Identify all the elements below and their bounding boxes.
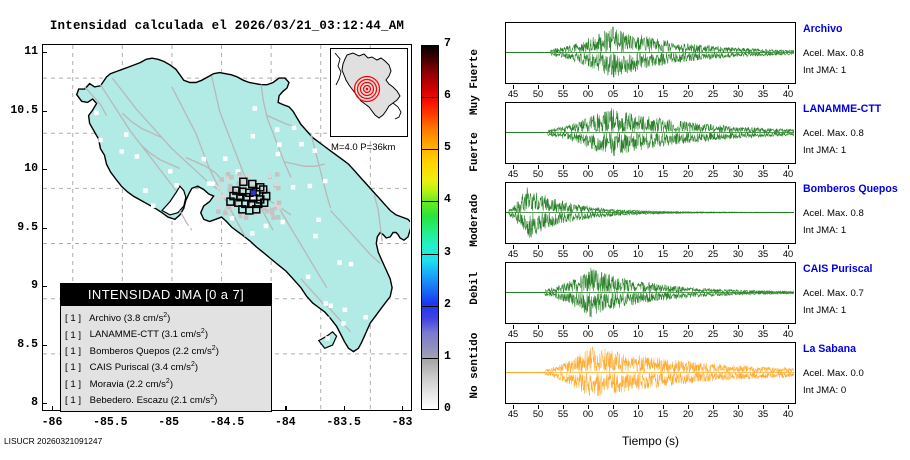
waveform-jma-intensity: Int JMA: 1	[803, 145, 846, 156]
legend-close-paren: )	[205, 330, 208, 341]
waveform-time-tick-label: 15	[651, 169, 675, 179]
legend-intensity-bracket: [ 1 ]	[65, 361, 87, 374]
earthquake-magnitude-depth-caption: M=4.0 P=36km	[331, 142, 395, 153]
waveform-time-tick-label: 25	[701, 249, 725, 259]
colorbar-tick-label: 2	[444, 298, 451, 311]
waveform-station-name[interactable]: Archivo	[803, 23, 842, 35]
waveform-time-tick-label: 55	[551, 169, 575, 179]
colorbar-tick	[421, 358, 439, 359]
legend-station-name: LANAMME-CTT (3.1 cm/s	[87, 330, 201, 341]
waveform-time-tick-label: 30	[726, 169, 750, 179]
map-x-tick-label: -85	[142, 416, 196, 429]
waveform-time-tick-label: 30	[726, 249, 750, 259]
map-y-tick-label: 8	[0, 396, 38, 409]
waveform-time-tick-label: 35	[751, 329, 775, 339]
waveform-station-name[interactable]: Bomberos Quepos	[803, 183, 898, 195]
legend-station-name: CAIS Puriscal (3.4 cm/s	[87, 362, 191, 373]
page-title: Intensidad calculada el 2026/03/21_03:12…	[42, 19, 412, 33]
legend-entry-list: [ 1 ] Archivo (3.8 cm/s2)[ 1 ] LANAMME-C…	[61, 306, 271, 411]
waveform-time-tick-label: 45	[501, 329, 525, 339]
waveform-station-name[interactable]: La Sabana	[803, 343, 856, 355]
waveform-trace	[506, 183, 794, 242]
legend-entry: [ 1 ] Moravia (2.2 cm/s2)	[65, 375, 271, 391]
map-x-tick	[402, 406, 403, 411]
waveform-time-tick-label: 40	[776, 89, 800, 99]
inset-map-svg	[331, 49, 406, 135]
waveform-panel[interactable]	[505, 182, 796, 244]
waveform-time-tick-label: 15	[651, 89, 675, 99]
colorbar-tick-label: 4	[444, 193, 451, 206]
waveform-panel[interactable]	[505, 262, 796, 324]
map-y-tick	[42, 111, 47, 112]
legend-entry: [ 1 ] Archivo (3.8 cm/s2)	[65, 309, 271, 325]
waveform-trace	[506, 23, 794, 82]
colorbar-tick	[421, 149, 439, 150]
legend-entry: [ 1 ] Bebedero. Escazu (2.1 cm/s2)	[65, 391, 271, 407]
waveform-time-axis: 455055000510152025303540	[505, 245, 796, 258]
map-y-tick-label: 11	[0, 45, 38, 58]
waveform-time-tick-label: 20	[676, 329, 700, 339]
waveform-panel[interactable]	[505, 102, 796, 164]
intensity-legend: INTENSIDAD JMA [0 a 7] [ 1 ] Archivo (3.…	[60, 283, 272, 412]
waveform-time-tick-label: 55	[551, 409, 575, 419]
legend-intensity-bracket: [ 1 ]	[65, 378, 87, 391]
legend-close-paren: )	[214, 395, 217, 406]
colorbar-category-label: Moderado	[469, 186, 481, 254]
waveform-time-tick-label: 25	[701, 169, 725, 179]
waveform-peak-acceleration: Acel. Max. 0.8	[803, 48, 864, 59]
waveform-jma-intensity: Int JMA: 1	[803, 225, 846, 236]
waveform-time-tick-label: 30	[726, 329, 750, 339]
waveform-time-axis: 455055000510152025303540	[505, 325, 796, 338]
station-marker-highlight	[250, 190, 256, 196]
map-y-tick	[42, 345, 47, 346]
waveform-time-tick-label: 40	[776, 249, 800, 259]
map-y-tick-label: 10.5	[0, 104, 38, 117]
waveform-trace	[506, 343, 794, 402]
waveform-time-tick-label: 55	[551, 89, 575, 99]
waveform-time-axis: 455055000510152025303540	[505, 165, 796, 178]
waveform-station-name[interactable]: CAIS Puriscal	[803, 263, 872, 275]
map-y-tick-label: 9.5	[0, 221, 38, 234]
waveform-peak-acceleration: Acel. Max. 0.0	[803, 368, 864, 379]
waveform-time-tick-label: 05	[601, 329, 625, 339]
waveform-jma-intensity: Int JMA: 0	[803, 385, 846, 396]
waveform-peak-acceleration: Acel. Max. 0.7	[803, 288, 864, 299]
waveform-station-name[interactable]: LANAMME-CTT	[803, 103, 881, 115]
waveform-time-tick-label: 40	[776, 169, 800, 179]
legend-title: INTENSIDAD JMA [0 a 7]	[61, 284, 271, 306]
map-x-tick	[52, 406, 53, 411]
legend-close-paren: )	[170, 379, 173, 390]
map-y-tick-label: 8.5	[0, 338, 38, 351]
legend-intensity-bracket: [ 1 ]	[65, 329, 87, 342]
legend-station-name: Moravia (2.2 cm/s	[87, 379, 166, 390]
map-x-tick-label: -84.5	[200, 416, 254, 429]
waveform-jma-intensity: Int JMA: 1	[803, 65, 846, 76]
waveform-time-tick-label: 35	[751, 409, 775, 419]
intensity-colorbar	[421, 45, 439, 410]
waveform-time-tick-label: 10	[626, 249, 650, 259]
waveform-time-tick-label: 00	[576, 169, 600, 179]
waveform-time-tick-label: 20	[676, 409, 700, 419]
colorbar-category-label: Debil	[469, 254, 481, 322]
waveform-time-tick-label: 55	[551, 249, 575, 259]
waveform-time-tick-label: 20	[676, 169, 700, 179]
waveform-time-tick-label: 50	[526, 329, 550, 339]
waveform-trace	[506, 103, 794, 162]
waveform-time-tick-label: 35	[751, 249, 775, 259]
waveform-time-tick-label: 10	[626, 89, 650, 99]
waveform-time-tick-label: 05	[601, 409, 625, 419]
colorbar-tick	[421, 306, 439, 307]
colorbar-tick-label: 1	[444, 350, 451, 363]
waveform-panel[interactable]	[505, 342, 796, 404]
waveform-time-tick-label: 00	[576, 329, 600, 339]
waveform-time-tick-label: 15	[651, 249, 675, 259]
waveform-time-tick-label: 15	[651, 329, 675, 339]
colorbar-tick	[421, 201, 439, 202]
map-y-tick-label: 10	[0, 162, 38, 175]
map-x-tick-label: -86	[25, 416, 79, 429]
colorbar-tick-label: 5	[444, 141, 451, 154]
legend-entry: [ 1 ] Bomberos Quepos (2.2 cm/s2)	[65, 342, 271, 358]
legend-station-name: Bebedero. Escazu (2.1 cm/s	[87, 395, 210, 406]
time-axis-label: Tiempo (s)	[505, 434, 796, 448]
waveform-time-tick-label: 10	[626, 169, 650, 179]
legend-station-name: Bomberos Quepos (2.2 cm/s	[87, 346, 212, 357]
colorbar-tick-label: 3	[444, 246, 451, 259]
map-y-tick	[42, 228, 47, 229]
waveform-time-axis: 455055000510152025303540	[505, 85, 796, 98]
waveform-time-tick-label: 50	[526, 89, 550, 99]
waveform-time-tick-label: 00	[576, 409, 600, 419]
waveform-peak-acceleration: Acel. Max. 0.8	[803, 128, 864, 139]
map-y-tick	[42, 403, 47, 404]
waveform-jma-intensity: Int JMA: 1	[803, 305, 846, 316]
waveform-time-tick-label: 10	[626, 329, 650, 339]
map-x-tick	[344, 406, 345, 411]
colorbar-category-label: Fuerte	[469, 118, 481, 186]
colorbar-tick	[421, 97, 439, 98]
map-y-tick	[42, 52, 47, 53]
epicenter-center	[366, 88, 369, 91]
waveform-time-tick-label: 50	[526, 409, 550, 419]
waveform-time-tick-label: 30	[726, 409, 750, 419]
waveform-time-tick-label: 25	[701, 89, 725, 99]
legend-entry: [ 1 ] CAIS Puriscal (3.4 cm/s2)	[65, 358, 271, 374]
colorbar-tick	[421, 254, 439, 255]
colorbar-tick-label: 6	[444, 89, 451, 102]
colorbar-category-label: Muy Fuerte	[469, 45, 481, 118]
waveform-time-tick-label: 05	[601, 169, 625, 179]
epicenter-inset-map[interactable]	[330, 48, 408, 137]
waveform-time-tick-label: 45	[501, 89, 525, 99]
waveform-time-tick-label: 05	[601, 89, 625, 99]
waveform-time-tick-label: 05	[601, 249, 625, 259]
colorbar-tick-label: 0	[444, 402, 451, 415]
waveform-time-tick-label: 45	[501, 169, 525, 179]
waveform-time-tick-label: 15	[651, 409, 675, 419]
waveform-time-tick-label: 30	[726, 89, 750, 99]
waveform-time-tick-label: 00	[576, 89, 600, 99]
waveform-time-tick-label: 45	[501, 409, 525, 419]
legend-close-paren: )	[216, 346, 219, 357]
waveform-trace	[506, 263, 794, 322]
waveform-time-tick-label: 25	[701, 409, 725, 419]
map-y-tick	[42, 169, 47, 170]
waveform-time-tick-label: 45	[501, 249, 525, 259]
waveform-panel[interactable]	[505, 22, 796, 84]
map-y-tick	[42, 286, 47, 287]
legend-intensity-bracket: [ 1 ]	[65, 394, 87, 407]
waveform-time-tick-label: 10	[626, 409, 650, 419]
waveform-peak-acceleration: Acel. Max. 0.8	[803, 208, 864, 219]
waveform-time-tick-label: 50	[526, 249, 550, 259]
map-x-tick-label: -84	[258, 416, 312, 429]
colorbar-tick-label: 7	[444, 37, 451, 50]
legend-entry: [ 1 ] LANAMME-CTT (3.1 cm/s2)	[65, 325, 271, 341]
legend-close-paren: )	[195, 362, 198, 373]
waveform-time-tick-label: 50	[526, 169, 550, 179]
map-x-tick-label: -83	[375, 416, 429, 429]
map-x-tick-label: -83.5	[317, 416, 371, 429]
legend-intensity-bracket: [ 1 ]	[65, 345, 87, 358]
map-x-tick-label: -85.5	[83, 416, 137, 429]
waveform-time-tick-label: 20	[676, 249, 700, 259]
map-y-tick-label: 9	[0, 279, 38, 292]
watermark: LISUCR 20260321091247	[4, 436, 102, 446]
waveform-time-tick-label: 55	[551, 329, 575, 339]
map-x-tick	[285, 406, 286, 411]
waveform-time-tick-label: 35	[751, 169, 775, 179]
waveform-time-tick-label: 00	[576, 249, 600, 259]
waveform-time-tick-label: 20	[676, 89, 700, 99]
legend-station-name: Archivo (3.8 cm/s	[87, 313, 163, 324]
legend-close-paren: )	[167, 313, 170, 324]
colorbar-category-label: No sentido	[469, 321, 481, 410]
waveform-time-tick-label: 40	[776, 409, 800, 419]
waveform-time-axis: 455055000510152025303540	[505, 405, 796, 418]
waveform-time-tick-label: 40	[776, 329, 800, 339]
waveform-time-tick-label: 25	[701, 329, 725, 339]
waveform-time-tick-label: 35	[751, 89, 775, 99]
legend-intensity-bracket: [ 1 ]	[65, 312, 87, 325]
